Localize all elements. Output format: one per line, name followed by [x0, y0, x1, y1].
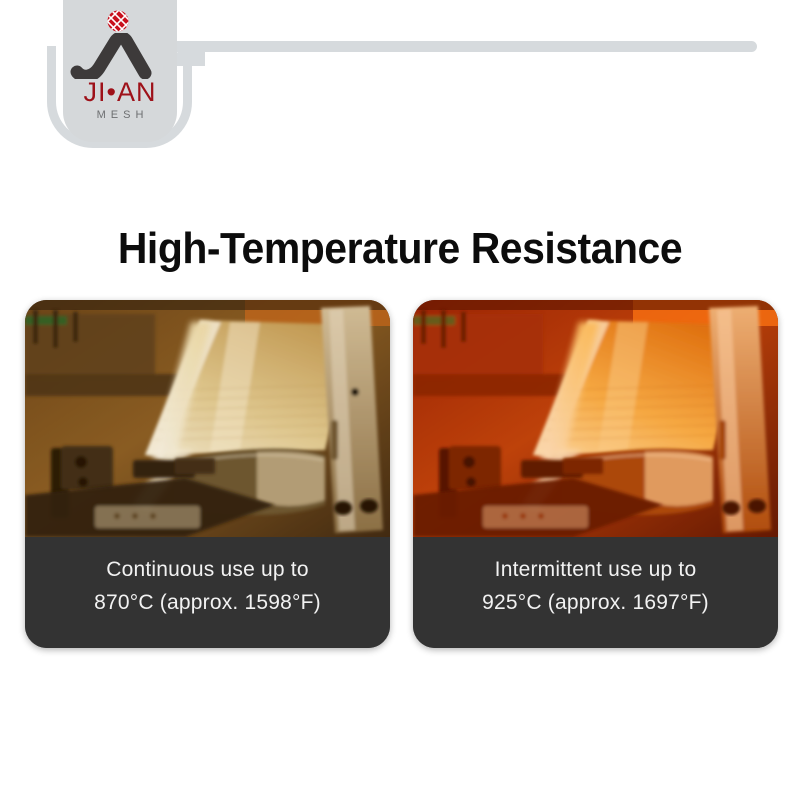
card-intermittent-use[interactable]: Intermittent use up to 925°C (approx. 16…	[413, 300, 778, 648]
brand-logo[interactable]: JI•AN MESH	[63, 0, 177, 142]
feature-card-group: Continuous use up to 870°C (approx. 1598…	[25, 300, 778, 648]
card-caption-intermittent: Intermittent use up to 925°C (approx. 16…	[413, 537, 778, 648]
page-title: High-Temperature Resistance	[28, 225, 772, 273]
brand-subtitle: MESH	[63, 110, 177, 121]
card-caption-continuous: Continuous use up to 870°C (approx. 1598…	[25, 537, 390, 648]
card-continuous-use[interactable]: Continuous use up to 870°C (approx. 1598…	[25, 300, 390, 648]
brand-header: JI•AN MESH	[0, 0, 800, 180]
caption-line-1: Intermittent use up to	[495, 554, 697, 587]
caption-line-2: 925°C (approx. 1697°F)	[482, 587, 709, 620]
header-rule-divider	[170, 41, 757, 52]
header-bracket-corner	[175, 46, 205, 66]
loom-photo-sepia	[25, 300, 390, 537]
caption-line-1: Continuous use up to	[106, 554, 308, 587]
caption-line-2: 870°C (approx. 1598°F)	[94, 587, 321, 620]
brand-name: JI•AN	[63, 79, 177, 106]
loom-photo-hot-orange	[413, 300, 778, 537]
mesh-ball-icon	[107, 10, 129, 32]
brand-swoosh-icon	[69, 33, 171, 79]
